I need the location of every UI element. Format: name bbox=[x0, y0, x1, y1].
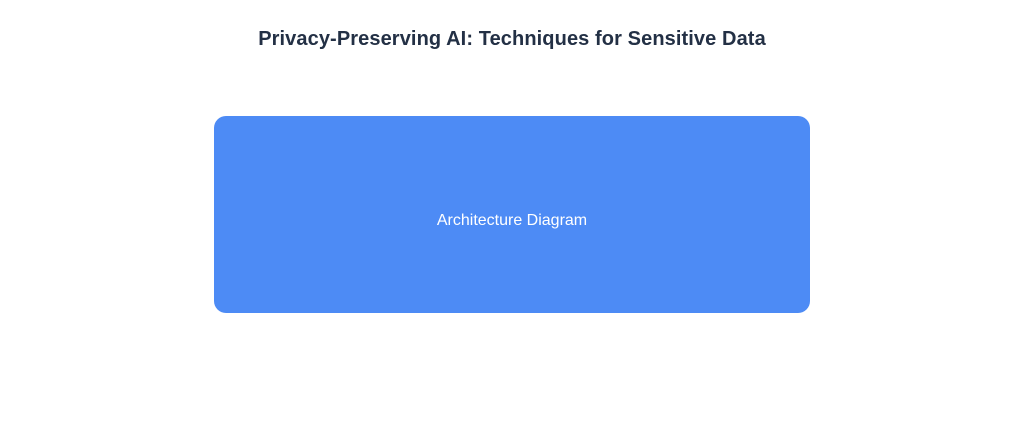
slide: Privacy-Preserving AI: Techniques for Se… bbox=[0, 0, 1024, 429]
page-title: Privacy-Preserving AI: Techniques for Se… bbox=[0, 26, 1024, 52]
architecture-diagram-placeholder[interactable]: Architecture Diagram bbox=[214, 116, 810, 313]
architecture-diagram-placeholder-label: Architecture Diagram bbox=[437, 211, 587, 231]
